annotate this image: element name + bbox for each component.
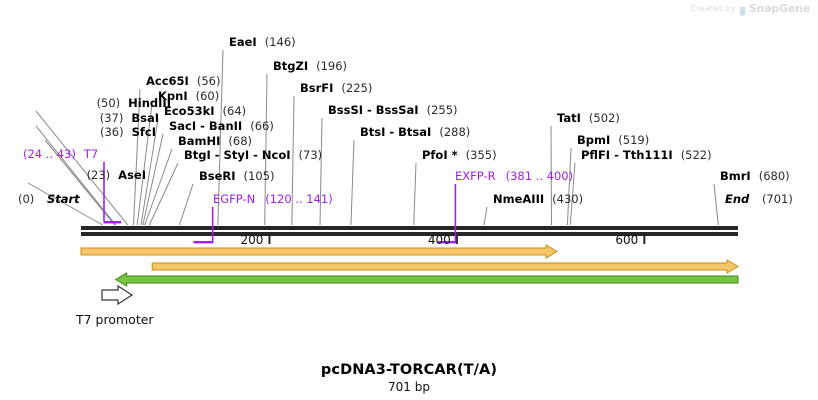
restriction-site-label: SacI - BanII(66) (169, 120, 274, 133)
enzyme-position: (146) (265, 35, 296, 49)
restriction-site-label: KpnI(60) (158, 90, 219, 103)
enzyme-position: (519) (618, 133, 649, 147)
enzyme-name: PfoI * (422, 148, 458, 162)
enzyme-name: SacI - BanII (169, 119, 242, 133)
backbone-top-strand (81, 226, 738, 230)
restriction-site-label: BpmI(519) (577, 134, 649, 147)
enzyme-name: BtsI - BtsaI (360, 125, 431, 139)
primer-label: EGFP-N(120 .. 141) (213, 193, 333, 206)
restriction-site-label: PfoI *(355) (422, 149, 497, 162)
enzyme-name: BpmI (577, 133, 610, 147)
enzyme-position: (73) (299, 148, 323, 162)
restriction-site-label: NmeAIII(430) (493, 193, 583, 206)
green-feature-1 (116, 273, 738, 286)
start-label: (0) Start (18, 193, 80, 206)
enzyme-name: PflFI - Tth111I (581, 148, 673, 162)
enzyme-name: TatI (557, 111, 581, 125)
leader-line (351, 140, 354, 225)
leader-line (145, 149, 172, 225)
enzyme-position: (355) (466, 148, 497, 162)
watermark-created-by-text: Created by (691, 4, 736, 13)
enzyme-name: BsrFI (300, 81, 333, 95)
restriction-site-label: (36)SfcI (0, 126, 156, 139)
enzyme-name: BtgI - StyI - NcoI (184, 148, 291, 162)
enzyme-name: BamHI (178, 134, 220, 148)
enzyme-name: AseI (118, 168, 146, 182)
ruler-tick-label: 600 (615, 233, 638, 247)
backbone-layer (0, 0, 818, 400)
start-position: (0) (18, 192, 34, 206)
enzyme-position: (522) (681, 148, 712, 162)
plasmid-map-canvas: Created by SnapGene (23)AseI(36)SfcI(37)… (0, 0, 818, 400)
restriction-site-label: (37)BsaI (0, 112, 159, 125)
ruler-tick-label: 200 (240, 233, 263, 247)
enzyme-position: (37) (100, 111, 124, 125)
restriction-site-label: BseRI(105) (199, 170, 274, 183)
leader-line (414, 163, 416, 225)
primer-range: (120 .. 141) (265, 192, 333, 206)
enzyme-position: (23) (87, 168, 111, 182)
plasmid-title: pcDNA3-TORCAR(T/A) (0, 362, 818, 378)
t7-promoter-label: T7 promoter (76, 312, 154, 327)
restriction-site-label: BtgZI(196) (273, 60, 347, 73)
enzyme-name: KpnI (158, 89, 188, 103)
primer-name: EXFP-R (455, 169, 496, 183)
restriction-site-label: TatI(502) (557, 112, 620, 125)
enzyme-position: (196) (316, 59, 347, 73)
restriction-site-label: EaeI(146) (229, 36, 296, 49)
enzyme-name: BsaI (131, 111, 159, 125)
end-position: (701) (762, 192, 793, 206)
leader-line (484, 207, 487, 225)
t7-promoter-arrow-icon (100, 285, 134, 315)
orange-feature-1 (81, 245, 557, 258)
enzyme-position: (680) (759, 169, 790, 183)
primer-range: (24 .. 43) (23, 147, 76, 161)
enzyme-position: (255) (427, 103, 458, 117)
snapgene-watermark: Created by SnapGene (691, 2, 810, 15)
leader-line (179, 184, 193, 225)
enzyme-position: (60) (196, 89, 220, 103)
ruler-tick (456, 236, 458, 244)
restriction-site-label: PflFI - Tth111I(522) (581, 149, 712, 162)
restriction-site-label: BtgI - StyI - NcoI(73) (184, 149, 322, 162)
primer-bar (193, 241, 213, 243)
ruler-tick (268, 236, 270, 244)
enzyme-position: (502) (589, 111, 620, 125)
enzyme-position: (105) (244, 169, 275, 183)
leader-line (149, 163, 178, 225)
leader-lines-group (0, 0, 818, 400)
primer-name: EGFP-N (213, 192, 255, 206)
enzyme-position: (430) (552, 192, 583, 206)
primer-label: EXFP-R(381 .. 400) (455, 170, 573, 183)
enzyme-name: Eco53kI (164, 104, 215, 118)
restriction-site-label: BtsI - BtsaI(288) (360, 126, 470, 139)
restriction-site-label: (50)HindIII (0, 97, 171, 110)
restriction-site-label: BmrI(680) (720, 170, 790, 183)
enzyme-position: (50) (97, 96, 121, 110)
start-text: Start (47, 192, 80, 206)
enzyme-position: (225) (341, 81, 372, 95)
leader-line (567, 148, 571, 225)
restriction-site-label: BamHI(68) (178, 135, 252, 148)
restriction-site-label: BsrFI(225) (300, 82, 372, 95)
leader-line (320, 118, 322, 225)
ruler-tick (643, 236, 645, 244)
primer-bar (103, 221, 121, 223)
restriction-site-label: BssSI - BssSaI(255) (328, 104, 458, 117)
enzyme-name: BtgZI (273, 59, 308, 73)
enzyme-name: NmeAIII (493, 192, 544, 206)
primer-range: (381 .. 400) (506, 169, 574, 183)
enzyme-name: BseRI (199, 169, 236, 183)
enzyme-position: (56) (197, 74, 221, 88)
orange-feature-2 (152, 260, 738, 273)
enzyme-position: (66) (250, 119, 274, 133)
end-label: End (701) (725, 193, 793, 206)
primer-name: T7 (84, 147, 98, 161)
restriction-site-label: Eco53kI(64) (164, 105, 246, 118)
leader-line (714, 184, 718, 225)
enzyme-position: (64) (223, 104, 247, 118)
plasmid-length: 701 bp (0, 380, 818, 394)
end-text: End (725, 192, 749, 206)
ruler-tick-label: 400 (428, 233, 451, 247)
restriction-site-label: (23)AseI (0, 169, 146, 182)
backbone-bottom-strand (81, 232, 738, 236)
enzyme-name: BmrI (720, 169, 751, 183)
primer-label: (24 .. 43)T7 (23, 148, 98, 161)
enzyme-position: (68) (228, 134, 252, 148)
restriction-site-label: Acc65I(56) (146, 75, 220, 88)
enzyme-name: Acc65I (146, 74, 189, 88)
snapgene-logo-icon (739, 3, 746, 14)
enzyme-name: BssSI - BssSaI (328, 103, 419, 117)
enzyme-position: (288) (439, 125, 470, 139)
enzyme-name: EaeI (229, 35, 257, 49)
enzyme-name: SfcI (132, 125, 156, 139)
watermark-product-name: SnapGene (749, 2, 810, 15)
enzyme-position: (36) (100, 125, 124, 139)
